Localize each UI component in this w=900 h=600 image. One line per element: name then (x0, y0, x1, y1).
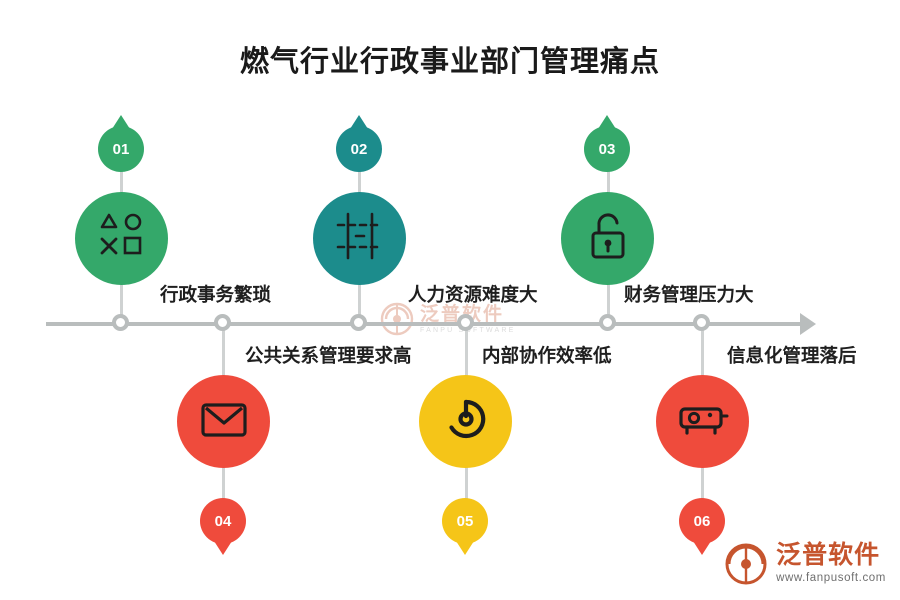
pin-05: 05 (442, 498, 488, 544)
brand-cn-text: 泛普软件 (776, 543, 886, 568)
projector-icon (676, 397, 730, 446)
node-dot-04 (214, 314, 231, 331)
pin-number-04: 04 (215, 513, 232, 530)
pin-04: 04 (200, 498, 246, 544)
label-05: 内部协作效率低 (482, 342, 612, 368)
brand-url-text: www.fanpusoft.com (776, 573, 886, 585)
bubble-04[interactable] (177, 375, 270, 468)
page-title: 燃气行业行政事业部门管理痛点 (0, 38, 900, 80)
label-01: 行政事务繁琐 (160, 281, 271, 307)
pin-02: 02 (336, 126, 382, 172)
bubble-06[interactable] (656, 375, 749, 468)
pin-number-01: 01 (113, 141, 130, 158)
crop-icon (334, 210, 386, 267)
bubble-01[interactable] (75, 192, 168, 285)
timeline-arrow-icon (800, 313, 816, 335)
label-03: 财务管理压力大 (624, 281, 754, 307)
unlock-icon (585, 211, 631, 266)
timeline-axis (46, 322, 806, 326)
label-04: 公共关系管理要求高 (245, 342, 412, 368)
pin-06: 06 (679, 498, 725, 544)
node-dot-01 (112, 314, 129, 331)
infographic-canvas: 燃气行业行政事业部门管理痛点 泛普软件 FANPU SOFTWARE (0, 0, 900, 600)
pin-03: 03 (584, 126, 630, 172)
node-dot-06 (693, 314, 710, 331)
bubble-02[interactable] (313, 192, 406, 285)
brand-mark-icon (724, 542, 768, 586)
label-02: 人力资源难度大 (408, 281, 538, 307)
mail-icon (198, 395, 250, 448)
pin-number-03: 03 (599, 141, 616, 158)
pin-number-02: 02 (351, 141, 368, 158)
brand-logo: 泛普软件 www.fanpusoft.com (724, 542, 886, 586)
bubble-05[interactable] (419, 375, 512, 468)
pin-01: 01 (98, 126, 144, 172)
pin-number-06: 06 (694, 513, 711, 530)
watermark-logo-icon (380, 302, 414, 336)
shapes-icon (97, 211, 147, 266)
refresh-icon (441, 394, 491, 449)
node-dot-02 (350, 314, 367, 331)
node-dot-05 (457, 314, 474, 331)
bubble-03[interactable] (561, 192, 654, 285)
pin-number-05: 05 (457, 513, 474, 530)
label-06: 信息化管理落后 (727, 342, 857, 368)
node-dot-03 (599, 314, 616, 331)
